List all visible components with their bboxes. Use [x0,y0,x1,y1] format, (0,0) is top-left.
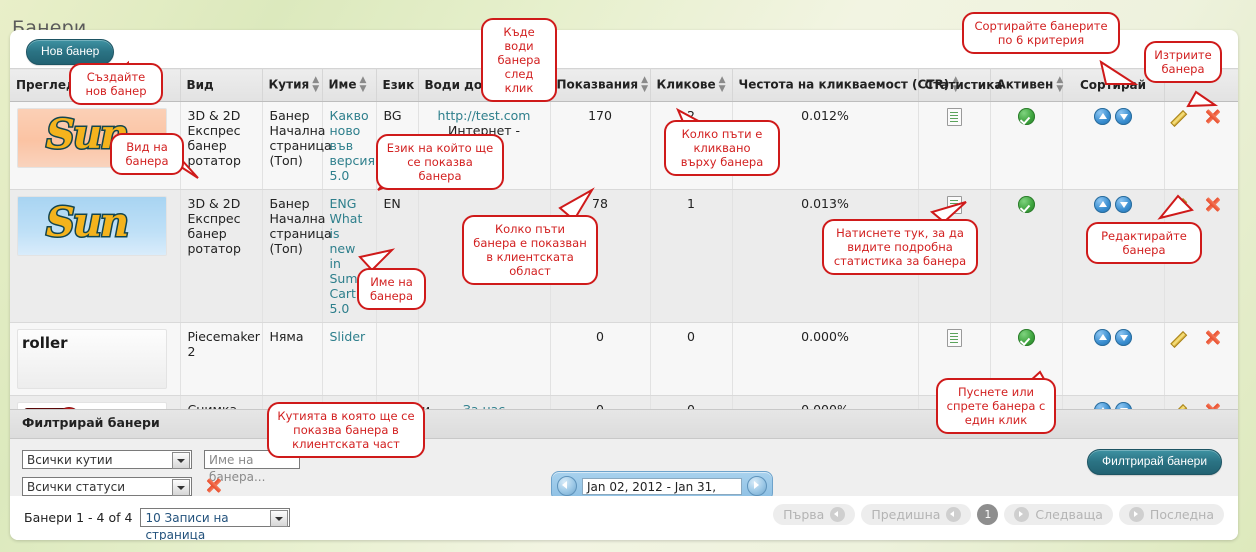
callout-toggle-active: Пуснете или спрете банера с един клик [936,378,1056,434]
callout-tails [0,0,1256,552]
callout-banner-type: Вид на банера [110,133,184,175]
callout-create-new: Създайте нов банер [69,63,163,105]
callout-edit: Редактирайте банера [1086,222,1202,264]
callout-box: Кутията в която ще се показва банера в к… [267,402,425,458]
callout-sort: Сортирайте банерите по 6 критерия [962,12,1120,54]
callout-impressions: Колко пъти банера е показван в клиентска… [462,215,598,285]
callout-clicks: Колко пъти е кликвано върху банера [664,120,780,176]
callout-delete: Изтриите банера [1144,41,1222,83]
callout-language: Език на който ще се показва банера [376,134,504,190]
callout-statistics: Натиснете тук, за да видите подробна ста… [822,219,978,275]
callout-banner-name: Име на банера [357,268,426,310]
callout-where-leads: Къде води банера след клик [481,18,557,102]
